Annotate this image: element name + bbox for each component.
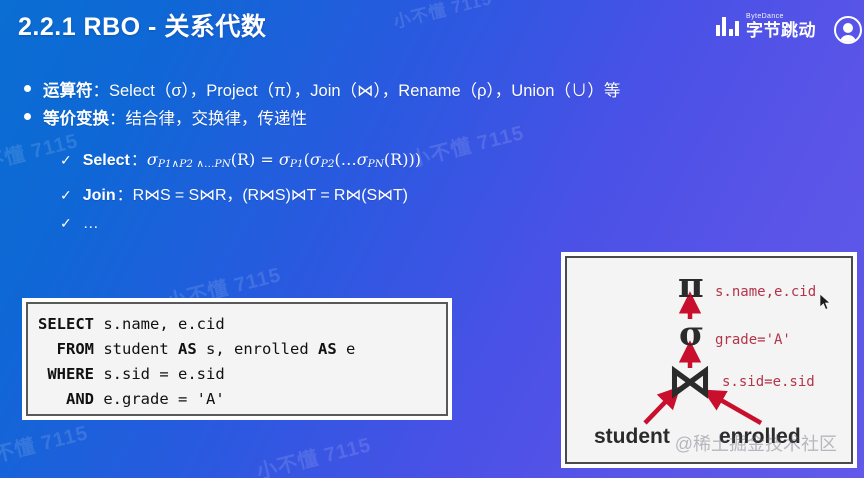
check-icon: ✓: [60, 187, 72, 204]
sql-rest-2: s.sid = e.sid: [94, 365, 225, 383]
sub-bullet-separator: ：: [117, 181, 133, 205]
bullet-keyword: 等价变换: [43, 110, 109, 128]
sql-rest-0: s.name, e.cid: [94, 315, 225, 333]
sql-keyword-and: AND: [66, 390, 94, 408]
bullet-dot-icon: [24, 85, 31, 92]
sql-code-inner: SELECT s.name, e.cid FROM student AS s, …: [26, 302, 448, 416]
node-selection-label: grade='A': [715, 332, 791, 348]
sql-keyword-from: FROM: [57, 340, 94, 358]
sql-code-text: SELECT s.name, e.cid FROM student AS s, …: [38, 312, 436, 412]
node-selection-symbol: σ: [679, 317, 704, 351]
check-icon: ✓: [60, 215, 72, 232]
sub-bullet-join: ✓ Join： R⋈S = S⋈R，(R⋈S)⋈T = R⋈(S⋈T): [60, 181, 408, 205]
sub-bullet-separator: ：: [131, 146, 147, 170]
site-watermark: @稀土掘金技术社区: [675, 430, 837, 456]
sql-code-box: SELECT s.name, e.cid FROM student AS s, …: [22, 298, 452, 420]
brand-name-en: ByteDance: [746, 13, 816, 20]
ellipsis-text: …: [83, 215, 99, 233]
node-join-label: s.sid=e.sid: [722, 374, 815, 390]
query-tree-inner: π s.name,e.cid σ grade='A' ⋈ s.sid=e.sid…: [565, 256, 853, 464]
node-join-symbol: ⋈: [668, 360, 712, 404]
sub-bullet-keyword: Select: [83, 152, 130, 170]
join-formula: R⋈S = S⋈R，(R⋈S)⋈T = R⋈(S⋈T): [133, 181, 408, 205]
watermark-tile: 小不懂 7115: [390, 0, 494, 33]
bullet-item-equivalence: 等价变换：结合律，交换律，传递性: [24, 105, 307, 129]
sql-keyword-select: SELECT: [38, 315, 94, 333]
page-title: 2.2.1 RBO - 关系代数: [18, 7, 266, 43]
sql-keyword-where: WHERE: [47, 365, 94, 383]
bar-chart-icon: [716, 17, 740, 36]
check-icon: ✓: [60, 152, 72, 169]
bullet-separator: ：: [109, 110, 126, 128]
mouse-cursor-icon: [820, 294, 832, 312]
query-tree-box: π s.name,e.cid σ grade='A' ⋈ s.sid=e.sid…: [561, 252, 857, 468]
watermark-tile: 小不懂 7115: [406, 116, 526, 172]
sub-bullet-select: ✓ Select： σP1∧P2 ∧…PN(R) = σP1(σP2(…σPN(…: [60, 146, 421, 170]
bullet-keyword: 运算符: [43, 82, 93, 100]
brand-name-zh: 字节跳动: [746, 22, 816, 39]
bullet-body: 结合律，交换律，传递性: [126, 110, 308, 128]
leaf-student: student: [594, 425, 670, 449]
sql-keyword-as-1: AS: [178, 340, 197, 358]
node-projection-symbol: π: [678, 268, 704, 303]
sub-bullet-more: ✓ …: [60, 215, 99, 233]
bullet-body: Select（σ），Project（π），Join（⋈），Rename（ρ），U…: [109, 82, 620, 100]
bytedance-logo: ByteDance 字节跳动: [716, 13, 817, 39]
sub-bullet-keyword: Join: [83, 187, 116, 205]
sql-rest-3: e.grade = 'A': [94, 390, 225, 408]
node-projection-label: s.name,e.cid: [715, 284, 816, 300]
sql-keyword-as-2: AS: [318, 340, 337, 358]
bullet-dot-icon: [24, 113, 31, 120]
select-formula: σP1∧P2 ∧…PN(R) = σP1(σP2(…σPN(R))): [147, 150, 421, 170]
user-avatar-icon[interactable]: [834, 16, 862, 44]
bullet-item-operators: 运算符：Select（σ），Project（π），Join（⋈），Rename（…: [24, 77, 620, 101]
bullet-separator: ：: [93, 82, 110, 100]
watermark-tile: 小不懂 7115: [0, 416, 91, 472]
slide-canvas: 小不懂 7115 小不懂 7115 小不懂 7115 小不懂 7115 小不懂 …: [0, 0, 864, 478]
watermark-tile: 小不懂 7115: [253, 428, 373, 478]
